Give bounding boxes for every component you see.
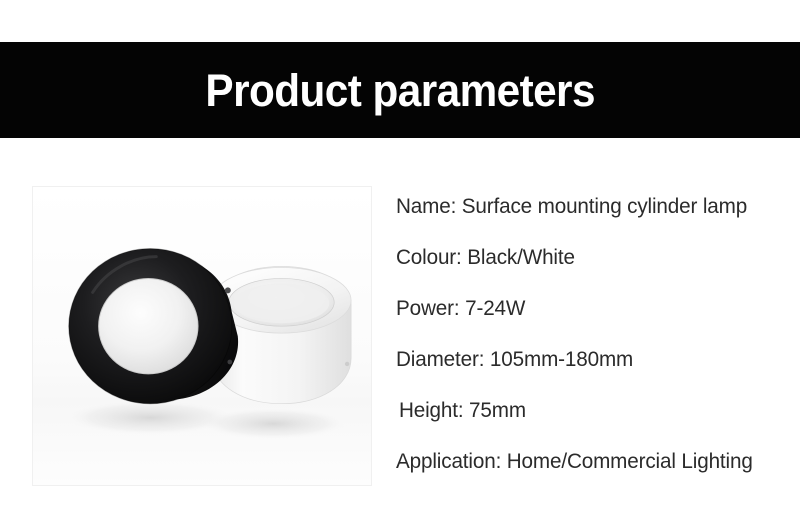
parameter-row-power: Power: 7-24W	[396, 298, 790, 349]
black-cylinder-lamp	[69, 249, 238, 404]
product-photo-illustration	[33, 187, 371, 485]
product-photo	[32, 186, 372, 486]
page-title: Product parameters	[205, 68, 594, 113]
white-lamp-shadow	[198, 408, 349, 440]
title-banner: Product parameters	[0, 42, 800, 138]
parameter-row-height: Height: 75mm	[396, 400, 790, 451]
parameter-row-application: Application: Home/Commercial Lighting	[396, 451, 790, 502]
parameter-row-diameter: Diameter: 105mm-180mm	[396, 349, 790, 400]
black-lamp-screw	[225, 287, 231, 293]
product-parameters-page: Product parameters	[0, 0, 800, 512]
parameter-list: Name: Surface mounting cylinder lamp Col…	[396, 196, 796, 502]
parameter-row-colour: Colour: Black/White	[396, 247, 790, 298]
parameter-row-name: Name: Surface mounting cylinder lamp	[396, 196, 790, 247]
